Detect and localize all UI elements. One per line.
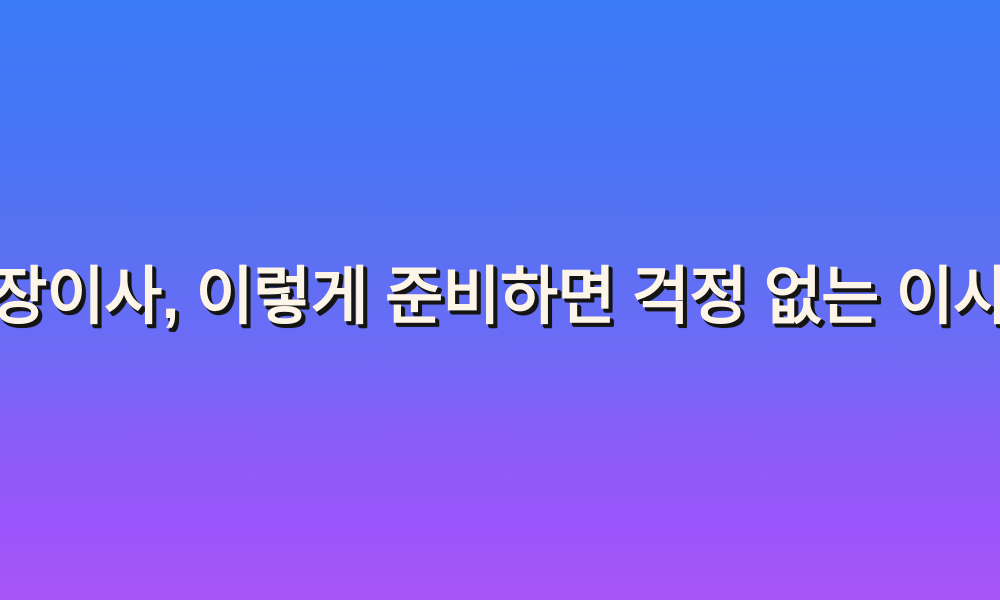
headline-text: 장이사, 이렇게 준비하면 걱정 없는 이사 xyxy=(0,264,1000,330)
thumbnail-banner: 장이사, 이렇게 준비하면 걱정 없는 이사 xyxy=(0,0,1000,600)
headline-container: 장이사, 이렇게 준비하면 걱정 없는 이사 xyxy=(0,0,1000,600)
